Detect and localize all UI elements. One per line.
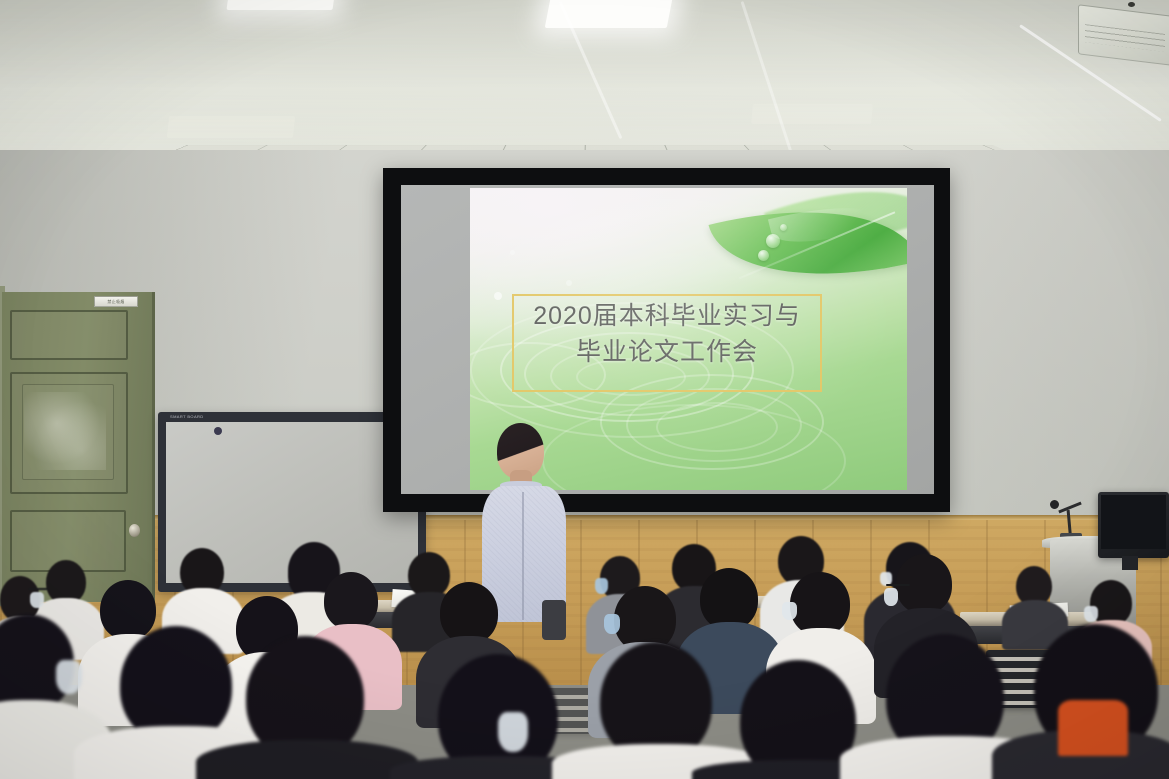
light-speck	[510, 250, 515, 255]
door-knob[interactable]	[129, 524, 140, 537]
whiteboard-magnet	[214, 427, 222, 435]
audience-member-orange-shirt	[1058, 700, 1128, 756]
light-speck	[494, 292, 502, 300]
ceiling-light-panel	[226, 0, 335, 10]
slide-title-line-2: 毕业论文工作会	[512, 334, 822, 370]
projection-screen-frame: 2020届本科毕业实习与 毕业论文工作会 Phenix	[383, 168, 950, 512]
ceiling-sensor	[1128, 2, 1135, 7]
slide-title: 2020届本科毕业实习与 毕业论文工作会	[512, 298, 822, 370]
projection-screen-surface: 2020届本科毕业实习与 毕业论文工作会 Phenix	[401, 185, 934, 494]
ceiling-light-panel	[167, 116, 295, 138]
classroom-door[interactable]: 禁止吸烟	[2, 292, 155, 602]
classroom-photo-scene: 禁止吸烟 SMART BOARD	[0, 0, 1169, 779]
slide-title-line-1: 2020届本科毕业实习与	[512, 298, 822, 334]
whiteboard-brand-label: SMART BOARD	[170, 414, 204, 419]
podium-monitor-screen	[1101, 495, 1166, 549]
door-sign: 禁止吸烟	[94, 296, 138, 307]
door-smudge	[24, 392, 106, 470]
door-panel-top	[10, 310, 128, 360]
water-droplet	[780, 224, 787, 231]
podium-monitor-stand	[1122, 556, 1138, 570]
light-speck	[566, 280, 572, 286]
presenter-trousers	[542, 600, 566, 640]
ceiling-light-panel	[751, 104, 873, 124]
podium-monitor[interactable]	[1098, 492, 1169, 558]
microphone-head	[1050, 500, 1059, 509]
water-droplet	[766, 234, 780, 248]
water-droplet	[758, 250, 769, 261]
